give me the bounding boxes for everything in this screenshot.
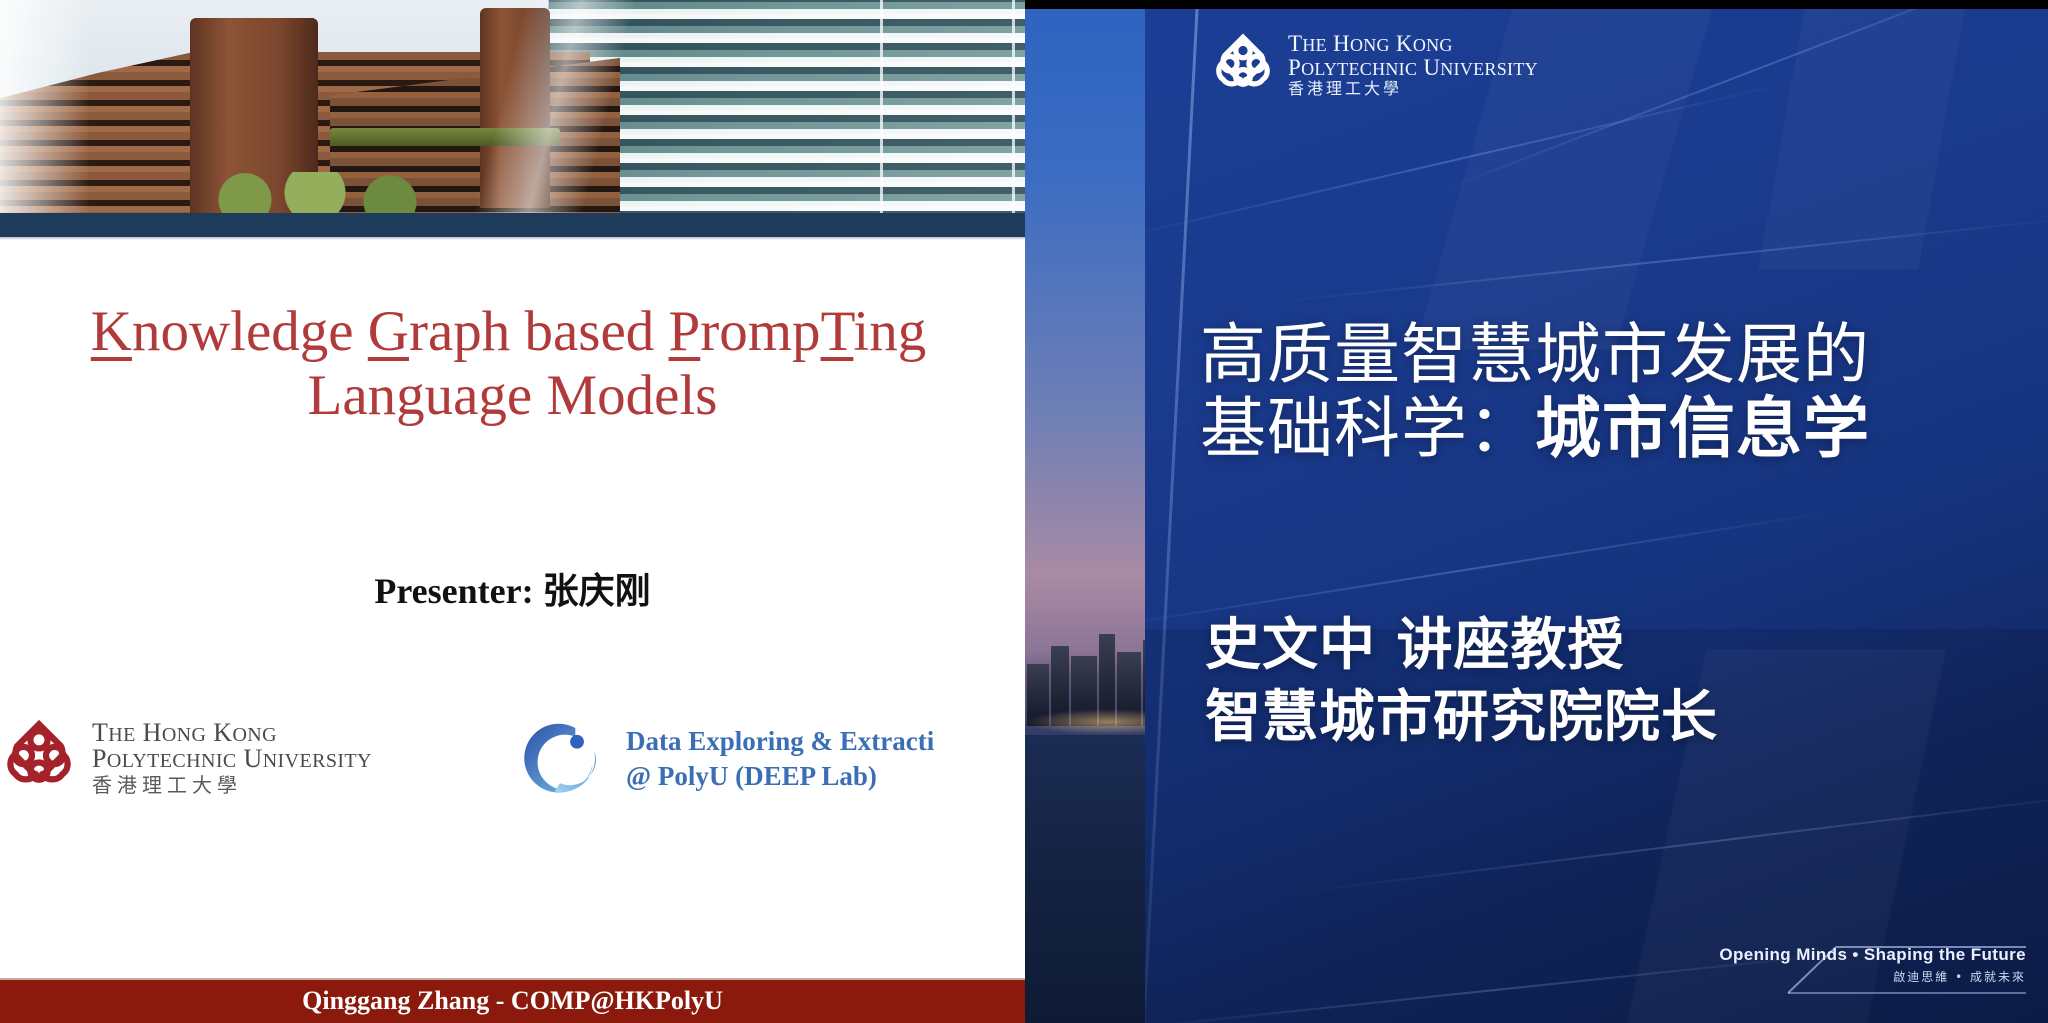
blue-facet-overlay (1145, 9, 2048, 1023)
deep-lab-wordmark: Data Exploring & Extracti @ PolyU (DEEP … (626, 724, 934, 793)
band-shadow (0, 237, 1025, 240)
campus-photo (0, 0, 1025, 213)
top-black-bar (1025, 0, 2048, 9)
screenshot-stage: Knowledge Graph based PrompTing Language… (0, 0, 2048, 1023)
slide-footer-text: Qinggang Zhang - COMP@HKPolyU (0, 986, 1025, 1016)
slide-title-line2: Language Models (0, 364, 1025, 428)
headline-line-2-light: 基础科学： (1200, 390, 1535, 467)
polyu-chinese-name: 香港理工大學 (92, 775, 372, 795)
presentation-slide-panel[interactable]: Knowledge Graph based PrompTing Language… (0, 0, 1025, 1023)
polyu-wordmark: THE HONG KONG POLYTECHNIC UNIVERSITY 香港理… (1288, 32, 1538, 97)
presenter-line: Presenter: 张庆刚 (0, 562, 1025, 614)
title-word-raph-based: raph based (409, 300, 669, 363)
polyu-logo: THE HONG KONG POLYTECHNIC UNIVERSITY 香港理… (1210, 32, 1538, 98)
talk-headline: 高质量智慧城市发展的 基础科学：城市信息学 (1200, 318, 1870, 466)
glass-mullion (1012, 0, 1015, 213)
foliage (195, 172, 445, 213)
glass-mullion (880, 0, 883, 213)
slide-footer-banner: Qinggang Zhang - COMP@HKPolyU (0, 978, 1025, 1023)
polyu-knot-icon (0, 718, 78, 796)
logo-row: THE HONG KONG POLYTECHNIC UNIVERSITY 香港理… (0, 708, 1025, 828)
deep-lab-line-2: @ PolyU (DEEP Lab) (626, 759, 934, 794)
headline-line-2-bold: 城市信息学 (1535, 390, 1870, 467)
title-initial-k: K (91, 300, 132, 363)
polyu-line-1: THE HONG KONG (1288, 32, 1538, 55)
presenter-name: 张庆刚 (543, 571, 651, 612)
title-initial-t: T (821, 300, 854, 363)
deep-lab-logo: Data Exploring & Extracti @ PolyU (DEEP … (522, 716, 934, 802)
polyu-knot-icon (1210, 32, 1276, 98)
polyu-chinese-name: 香港理工大學 (1288, 81, 1538, 97)
slogan-english: Opening Minds • Shaping the Future (1719, 945, 2026, 965)
slide-title: Knowledge Graph based PrompTing Language… (0, 300, 1025, 428)
speaker-affiliation: 智慧城市研究院院长 (1205, 682, 1718, 754)
speaker-name-title: 史文中 讲座教授 (1205, 610, 1718, 682)
presenter-label: Presenter: (374, 571, 542, 611)
speaker-block: 史文中 讲座教授 智慧城市研究院院长 (1205, 610, 1718, 753)
polyu-line-1: THE HONG KONG (92, 720, 372, 746)
polyu-slogan: Opening Minds • Shaping the Future 啟迪思維 … (1719, 945, 2026, 985)
polyu-logo: THE HONG KONG POLYTECHNIC UNIVERSITY 香港理… (0, 718, 372, 796)
slogan-chinese: 啟迪思維 • 成就未來 (1719, 968, 2026, 985)
title-word-ing: ing (853, 300, 926, 363)
polyu-line-2: POLYTECHNIC UNIVERSITY (92, 746, 372, 772)
navy-divider-band (0, 213, 1025, 237)
photo-edge-fade (0, 0, 90, 213)
polyu-wordmark: THE HONG KONG POLYTECHNIC UNIVERSITY 香港理… (92, 720, 372, 795)
polyu-line-2: POLYTECHNIC UNIVERSITY (1288, 56, 1538, 79)
speaker-title-card-panel[interactable]: THE HONG KONG POLYTECHNIC UNIVERSITY 香港理… (1025, 0, 2048, 1023)
title-initial-p: P (669, 300, 701, 363)
title-initial-g: G (368, 300, 409, 363)
headline-line-1: 高质量智慧城市发展的 (1200, 318, 1870, 392)
deep-lab-line-1: Data Exploring & Extracti (626, 724, 934, 759)
title-word-romp: romp (700, 300, 820, 363)
headline-line-2: 基础科学：城市信息学 (1200, 392, 1870, 466)
deep-lab-swirl-icon (522, 716, 608, 802)
slide-title-line1: Knowledge Graph based PrompTing (0, 300, 1025, 364)
title-word-nowledge: nowledge (132, 300, 368, 363)
